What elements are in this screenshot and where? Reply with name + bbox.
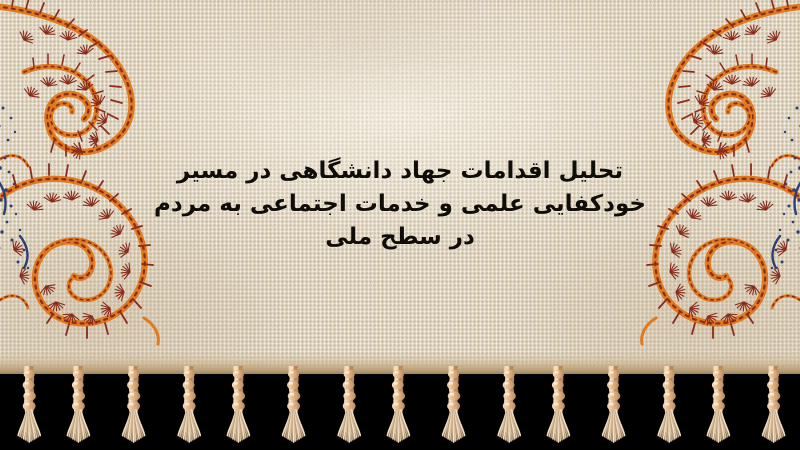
tassel	[116, 366, 150, 450]
title-line-3: در سطح ملی	[0, 221, 800, 254]
tassel	[596, 366, 630, 450]
tassel	[543, 366, 577, 450]
tassel	[330, 366, 364, 450]
tassel	[436, 366, 470, 450]
slide-title: تحلیل اقدامات جهاد دانشگاهی در مسیر خودک…	[0, 155, 800, 254]
tassel	[650, 366, 684, 450]
tassel	[10, 366, 44, 450]
tassel	[383, 366, 417, 450]
title-line-1: تحلیل اقدامات جهاد دانشگاهی در مسیر	[0, 155, 800, 188]
tassel	[170, 366, 204, 450]
tassel	[63, 366, 97, 450]
tassel	[490, 366, 524, 450]
tassel	[756, 366, 790, 450]
slide-canvas: تحلیل اقدامات جهاد دانشگاهی در مسیر خودک…	[0, 0, 800, 450]
tassel	[223, 366, 257, 450]
title-line-2: خودکفایی علمی و خدمات اجتماعی به مردم	[0, 188, 800, 221]
knotted-tassel-fringe	[0, 366, 800, 450]
tassel	[276, 366, 310, 450]
tassel	[703, 366, 737, 450]
